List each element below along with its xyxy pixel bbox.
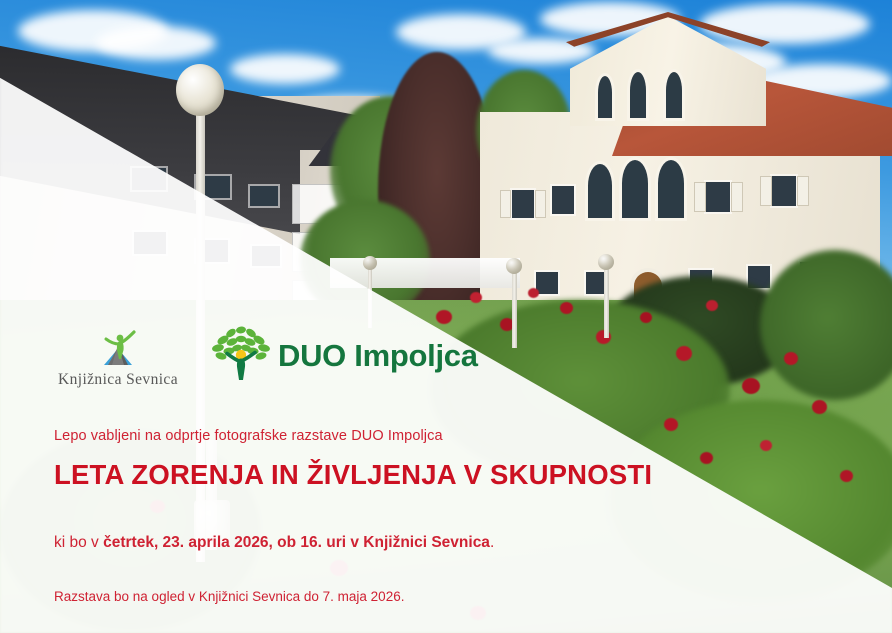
logo-duo-impoljca-label: DUO Impoljca <box>278 338 478 374</box>
logo-duo-impoljca: DUO Impoljca <box>210 322 478 389</box>
poster: Knjižnica Sevnica <box>0 0 892 633</box>
exhibition-title: LETA ZORENJA IN ŽIVLJENJA V SKUPNOSTI <box>54 459 754 491</box>
when-suffix: . <box>490 534 494 551</box>
book-with-figure-icon <box>52 329 184 369</box>
poster-content: Knjižnica Sevnica <box>0 0 892 633</box>
exhibition-duration-line: Razstava bo na ogled v Knjižnici Sevnica… <box>54 589 754 605</box>
when-prefix: ki bo v <box>54 534 103 551</box>
logo-knjiznica-sevnica: Knjižnica Sevnica <box>52 329 184 389</box>
event-datetime-line: ki bo v četrtek, 23. aprila 2026, ob 16.… <box>54 534 754 553</box>
invitation-line: Lepo vabljeni na odprtje fotografske raz… <box>54 428 754 445</box>
announcement-text: Lepo vabljeni na odprtje fotografske raz… <box>54 428 754 605</box>
tree-with-figure-icon <box>210 322 272 389</box>
logo-knjiznica-sevnica-label: Knjižnica Sevnica <box>52 371 184 389</box>
logo-row: Knjižnica Sevnica <box>52 322 478 389</box>
when-highlight: četrtek, 23. aprila 2026, ob 16. uri v K… <box>103 534 490 551</box>
